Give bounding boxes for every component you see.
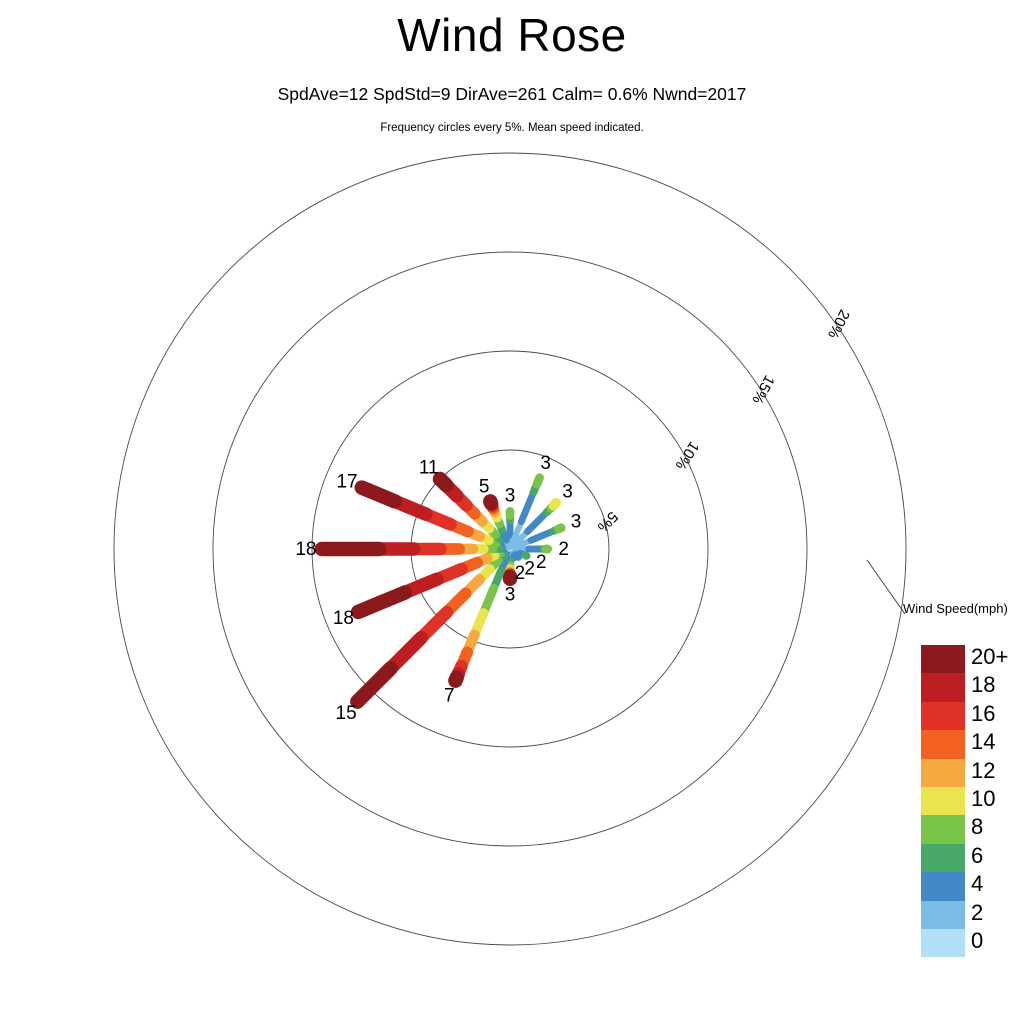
legend-swatch bbox=[921, 872, 965, 900]
legend-row: 12 bbox=[921, 759, 965, 787]
legend-label: 12 bbox=[971, 758, 1024, 784]
legend-row: 18 bbox=[921, 673, 965, 701]
wind-rose-plot: 5%10%15%20% 333322223715181817115 bbox=[0, 0, 1024, 1024]
ring-label: 20% bbox=[824, 307, 853, 341]
petal-mean-speed-label: 2 bbox=[515, 563, 526, 584]
legend-swatch bbox=[921, 844, 965, 872]
petal-mean-speed-label: 7 bbox=[444, 685, 455, 706]
legend-label: 14 bbox=[971, 729, 1024, 755]
legend-label: 4 bbox=[971, 871, 1024, 897]
petal-segment bbox=[357, 668, 390, 701]
ring-label: 5% bbox=[594, 508, 621, 535]
legend-swatch bbox=[921, 787, 965, 815]
legend-row: 10 bbox=[921, 787, 965, 815]
petal-mean-speed-label: 2 bbox=[536, 552, 547, 573]
petal-mean-speed-label: 2 bbox=[524, 559, 535, 580]
petal-mean-speed-label: 5 bbox=[479, 477, 490, 498]
petal-segment bbox=[455, 678, 456, 681]
wind-rose-page: Wind Rose SpdAve=12 SpdStd=9 DirAve=261 … bbox=[0, 0, 1024, 1024]
legend-label: 10 bbox=[971, 786, 1024, 812]
legend-swatch bbox=[921, 645, 965, 673]
petal-segment bbox=[553, 503, 556, 506]
legend-swatch bbox=[921, 759, 965, 787]
petals-group bbox=[322, 478, 561, 702]
legend-title: Wind Speed(mph) bbox=[903, 601, 1008, 616]
petal-mean-speed-label: 17 bbox=[336, 472, 357, 493]
legend-swatch bbox=[921, 730, 965, 758]
legend-swatch bbox=[921, 901, 965, 929]
ring-labels: 5%10%15%20% bbox=[594, 307, 853, 536]
legend-row: 4 bbox=[921, 872, 965, 900]
petal-mean-speed-label: 18 bbox=[295, 539, 316, 560]
petal-segment bbox=[537, 478, 540, 484]
legend-row: 14 bbox=[921, 730, 965, 758]
petal-mean-speed-label: 3 bbox=[540, 453, 551, 474]
legend-label: 8 bbox=[971, 814, 1024, 840]
legend-label: 16 bbox=[971, 701, 1024, 727]
petal-segment bbox=[558, 528, 561, 529]
petal-segment bbox=[362, 488, 395, 502]
petal-mean-speed-label: 3 bbox=[562, 481, 573, 502]
legend-label: 6 bbox=[971, 843, 1024, 869]
petal-mean-speed-label: 18 bbox=[333, 608, 354, 629]
petal-mean-speed-label: 3 bbox=[505, 485, 516, 506]
legend-swatch bbox=[921, 929, 965, 957]
petal-segment bbox=[521, 492, 533, 521]
petal-segment bbox=[358, 593, 405, 612]
legend-label: 2 bbox=[971, 900, 1024, 926]
legend-row: 8 bbox=[921, 815, 965, 843]
petal-mean-speed-labels: 333322223715181817115 bbox=[295, 453, 581, 724]
petal-mean-speed-label: 15 bbox=[336, 703, 357, 724]
legend-label: 18 bbox=[971, 672, 1024, 698]
legend-swatch bbox=[921, 815, 965, 843]
petal-segment bbox=[490, 501, 491, 503]
legend-row: 2 bbox=[921, 901, 965, 929]
legend-row: 20+ bbox=[921, 645, 965, 673]
petal bbox=[357, 549, 510, 702]
petal-segment bbox=[528, 513, 547, 532]
petal-mean-speed-label: 11 bbox=[419, 458, 439, 479]
legend-leader-line bbox=[867, 560, 905, 614]
legend-row: 0 bbox=[921, 929, 965, 957]
petal-segment bbox=[440, 479, 446, 485]
legend-label: 0 bbox=[971, 928, 1024, 954]
legend-row: 16 bbox=[921, 702, 965, 730]
petal-mean-speed-label: 2 bbox=[558, 539, 569, 560]
petal-mean-speed-label: 3 bbox=[505, 585, 516, 606]
speed-legend: 20+181614121086420 bbox=[921, 645, 965, 957]
legend-swatch bbox=[921, 673, 965, 701]
legend-label: 20+ bbox=[971, 644, 1024, 670]
petal-mean-speed-label: 3 bbox=[571, 512, 582, 533]
legend-swatch bbox=[921, 702, 965, 730]
ring-label: 10% bbox=[672, 438, 703, 472]
legend-row: 6 bbox=[921, 844, 965, 872]
